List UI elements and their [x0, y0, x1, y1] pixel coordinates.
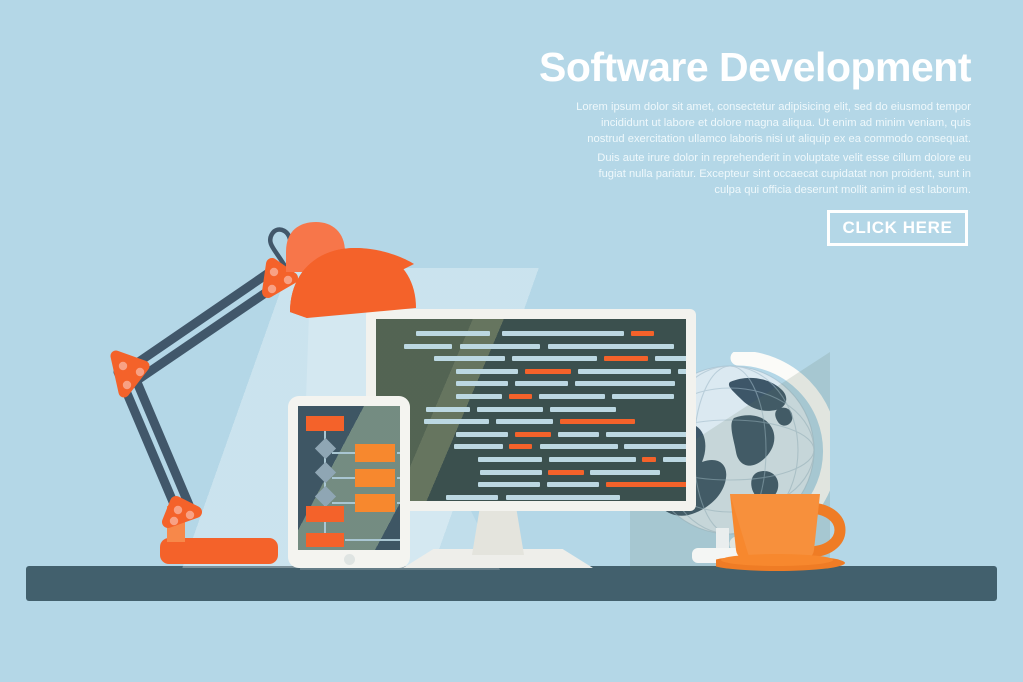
monitor-neck — [472, 511, 524, 555]
code-line-segment — [478, 482, 540, 487]
code-line-segment — [642, 457, 656, 462]
code-line-segment — [512, 356, 597, 361]
tablet-device — [288, 396, 410, 568]
lamp-joint-lower — [116, 356, 144, 392]
lamp-joint-base — [168, 502, 196, 525]
code-line-segment — [624, 444, 686, 449]
flow-connector — [397, 477, 400, 479]
flow-connector — [332, 452, 355, 454]
flow-connector — [332, 477, 355, 479]
code-line-segment — [548, 344, 674, 349]
code-line-segment — [558, 432, 599, 437]
code-line-segment — [539, 394, 605, 399]
code-line-segment — [456, 381, 508, 386]
tablet-screen — [298, 406, 400, 550]
code-line-segment — [663, 457, 686, 462]
code-line-segment — [478, 457, 542, 462]
code-line-segment — [575, 381, 675, 386]
code-line-segment — [578, 369, 671, 374]
code-line-segment — [496, 419, 553, 424]
code-line-segment — [540, 444, 618, 449]
code-line-segment — [548, 470, 584, 475]
hero-paragraph-1: Lorem ipsum dolor sit amet, consectetur … — [569, 99, 971, 148]
code-line-segment — [550, 407, 616, 412]
page-title: Software Development — [539, 44, 971, 91]
flow-connector — [345, 539, 400, 541]
code-line-segment — [456, 394, 502, 399]
flow-connector — [332, 502, 355, 504]
flow-connector — [397, 502, 400, 504]
coffee-cup — [716, 480, 866, 572]
code-line-segment — [434, 356, 505, 361]
code-line-segment — [515, 432, 551, 437]
click-here-button[interactable]: CLICK HERE — [827, 210, 968, 246]
tablet-home-button[interactable] — [344, 554, 355, 565]
flow-process-node — [355, 469, 395, 487]
code-line-segment — [547, 482, 599, 487]
lamp-shade — [290, 248, 414, 318]
flow-process-node — [306, 506, 344, 522]
code-lines — [376, 319, 686, 501]
lamp-shade-cap — [286, 222, 345, 272]
lamp-joint-upper — [268, 264, 292, 293]
hero-paragraph-2: Duis aute irure dolor in reprehenderit i… — [569, 150, 971, 199]
desktop-monitor — [366, 309, 696, 511]
monitor-screen — [376, 319, 686, 501]
code-line-segment — [509, 394, 532, 399]
code-line-segment — [506, 495, 620, 500]
flow-decision-node — [314, 437, 335, 458]
code-line-segment — [509, 444, 532, 449]
code-line-segment — [515, 381, 568, 386]
code-line-segment — [404, 344, 452, 349]
code-line-segment — [424, 419, 489, 424]
lamp-base — [160, 538, 278, 564]
code-line-segment — [590, 470, 660, 475]
code-line-segment — [426, 407, 470, 412]
code-line-segment — [631, 331, 654, 336]
code-line-segment — [502, 331, 624, 336]
code-line-segment — [655, 356, 686, 361]
code-line-segment — [456, 432, 508, 437]
illustration-canvas: Software Development Lorem ipsum dolor s… — [0, 0, 1023, 682]
code-line-segment — [606, 432, 686, 437]
flow-decision-node — [314, 461, 335, 482]
code-line-segment — [678, 369, 686, 374]
code-line-segment — [549, 457, 636, 462]
code-line-segment — [606, 482, 686, 487]
flow-process-node — [355, 444, 395, 462]
code-line-segment — [612, 394, 674, 399]
lamp-arms — [118, 272, 277, 516]
code-line-segment — [416, 331, 490, 336]
code-line-segment — [446, 495, 498, 500]
code-line-segment — [477, 407, 543, 412]
code-line-segment — [460, 344, 540, 349]
lamp-cord — [270, 229, 290, 268]
code-line-segment — [560, 419, 635, 424]
flow-process-node — [306, 416, 344, 431]
flow-connector — [397, 452, 400, 454]
lamp-bulb — [325, 274, 365, 314]
code-line-segment — [525, 369, 571, 374]
flow-process-node — [306, 533, 344, 547]
code-line-segment — [604, 356, 648, 361]
code-line-segment — [456, 369, 518, 374]
code-line-segment — [480, 470, 542, 475]
code-line-segment — [454, 444, 503, 449]
flowchart-diagram — [298, 406, 400, 550]
flow-process-node — [355, 494, 395, 512]
